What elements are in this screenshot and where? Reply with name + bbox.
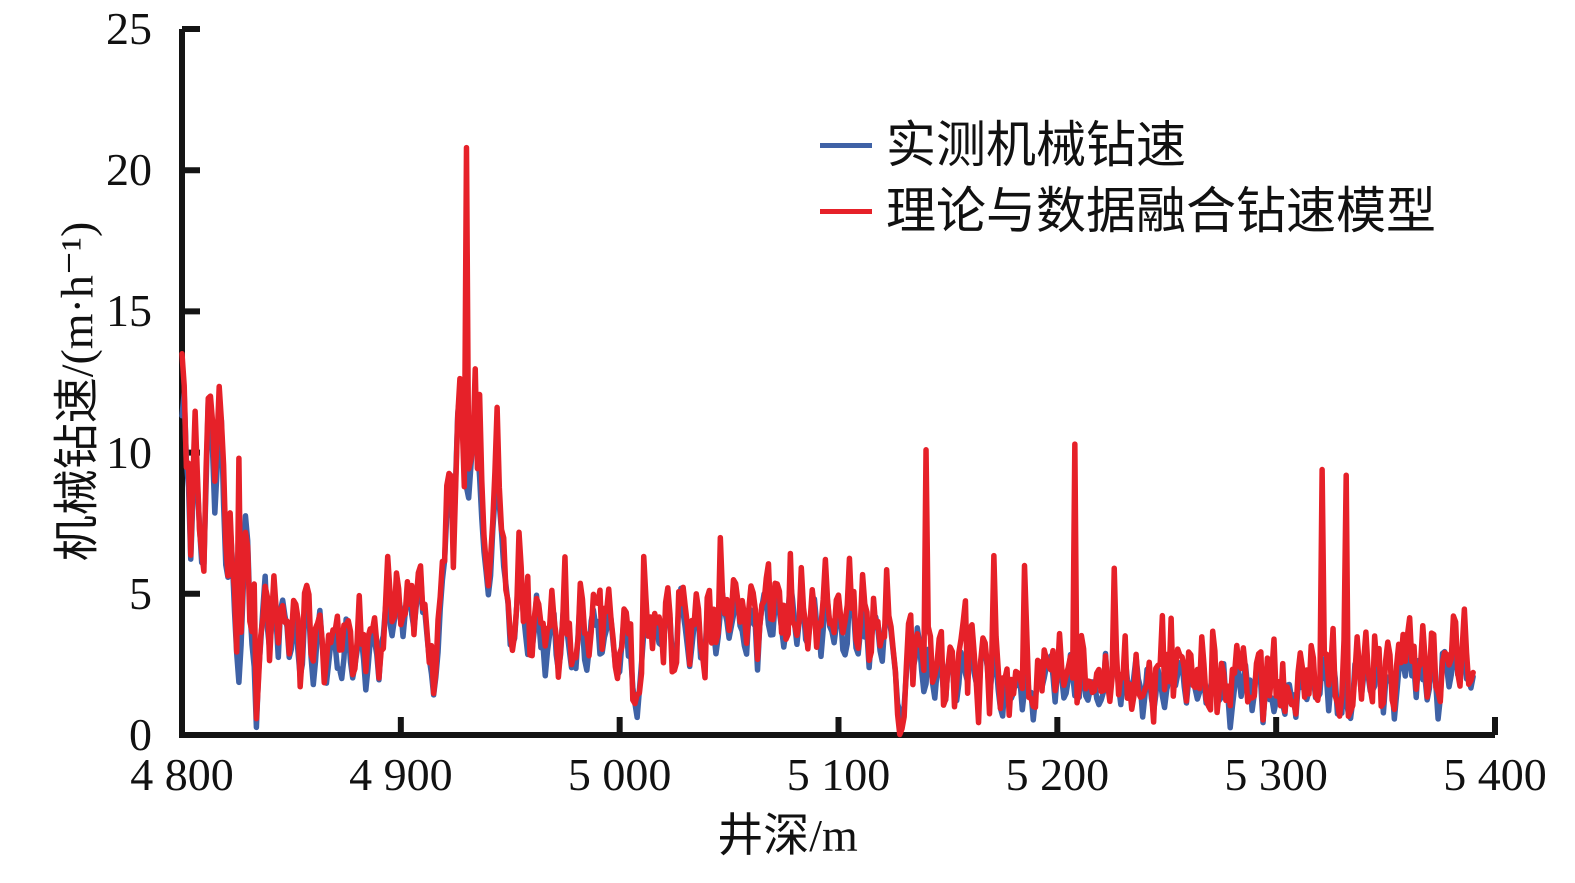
x-tick-label: 5 200: [967, 752, 1147, 798]
legend-item[interactable]: 实测机械钻速: [820, 112, 1436, 178]
x-axis-title-main: 井深: [717, 809, 809, 861]
y-axis-title-unit: /(m·h⁻¹): [52, 222, 103, 378]
legend-item[interactable]: 理论与数据融合钻速模型: [820, 178, 1436, 244]
chart-legend: 实测机械钻速理论与数据融合钻速模型: [820, 112, 1436, 244]
x-tick-label: 5 000: [530, 752, 710, 798]
legend-item-label: 实测机械钻速: [886, 120, 1186, 170]
chart-figure: 0510152025 4 8004 9005 0005 1005 2005 30…: [0, 0, 1575, 883]
legend-item-label: 理论与数据融合钻速模型: [886, 186, 1436, 236]
x-axis-title: 井深/m: [0, 812, 1575, 859]
x-tick-label: 5 100: [749, 752, 929, 798]
line-swatch-red: [820, 209, 872, 214]
y-axis-title-main: 机械钻速: [51, 377, 103, 561]
x-axis-title-unit: /m: [809, 810, 858, 861]
x-tick-label: 5 400: [1405, 752, 1575, 798]
line-swatch-blue: [820, 143, 872, 148]
x-tick-label: 5 300: [1186, 752, 1366, 798]
x-tick-label: 4 800: [92, 752, 272, 798]
x-tick-label: 4 900: [311, 752, 491, 798]
y-tick-label: 25: [80, 6, 152, 52]
y-axis-title: 机械钻速/(m·h⁻¹): [54, 72, 101, 712]
